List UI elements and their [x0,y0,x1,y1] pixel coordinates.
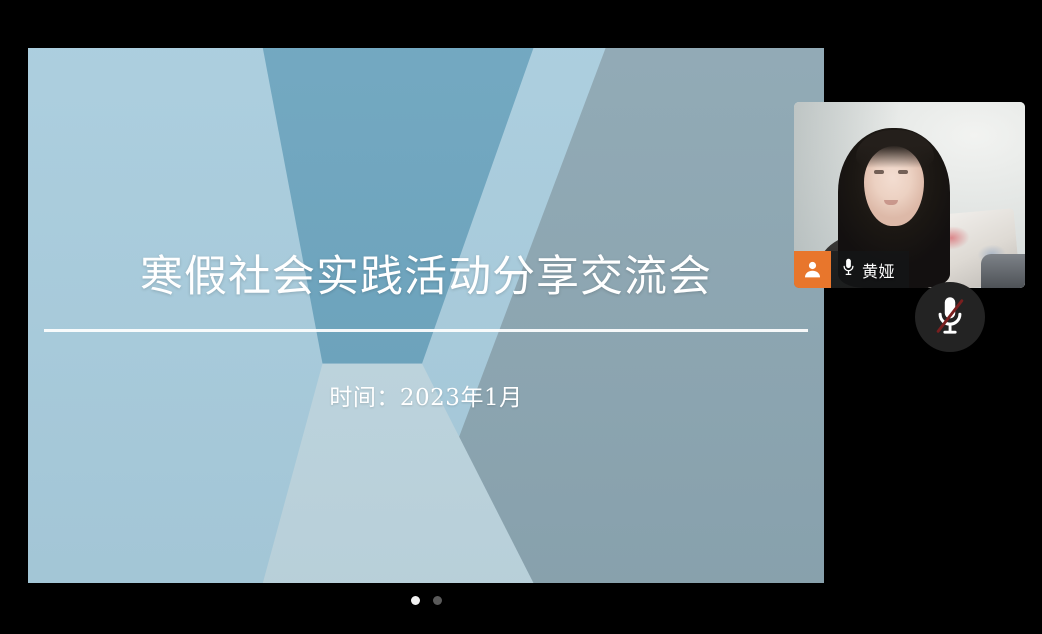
microphone-icon [841,257,856,283]
meeting-screen-share-view: 寒假社会实践活动分享交流会 时间：2023年1月 [0,0,1042,634]
participant-name-label: 黄娅 [862,258,895,282]
shared-slide[interactable]: 寒假社会实践活动分享交流会 时间：2023年1月 [28,48,824,583]
participant-right-eye [898,170,908,174]
slide-subtitle: 时间：2023年1月 [28,378,824,412]
microphone-muted-icon[interactable] [915,282,985,352]
participant-garment-dark-panel [981,254,1025,288]
pagination-dot-1[interactable] [411,596,420,605]
slide-pagination-dots[interactable] [28,594,824,606]
slide-content: 寒假社会实践活动分享交流会 时间：2023年1月 [28,48,824,583]
slide-title: 寒假社会实践活动分享交流会 [28,254,824,301]
slide-divider-rule [44,329,808,332]
participant-video-tile[interactable]: 黄娅 [794,102,1025,288]
participant-left-eye [874,170,884,174]
pagination-dot-2[interactable] [433,596,442,605]
